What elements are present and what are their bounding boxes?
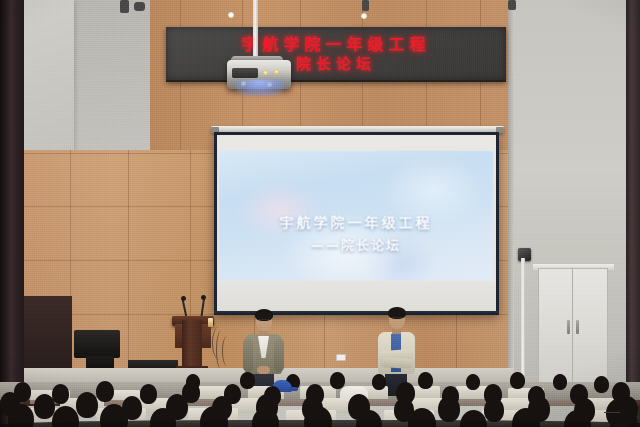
wall-panel-upper-left: [22, 0, 74, 152]
podium-cable: [222, 336, 232, 366]
audience-head: [553, 374, 567, 390]
led-banner-line-1: 宇航学院一年级工程: [166, 31, 506, 55]
audience-head: [484, 398, 504, 422]
wall-socket-icon: [336, 354, 346, 361]
audience-glasses-icon: [604, 412, 620, 417]
audience-head: [52, 384, 69, 404]
curtain-left-inner: [0, 0, 10, 427]
screen-lower-blank: [217, 281, 496, 311]
podium-indicator-light-icon: [208, 318, 213, 327]
presenter-left-glasses-icon: [257, 319, 271, 323]
audience-head: [76, 392, 98, 418]
projector-mount-pole: [253, 0, 258, 62]
audience-head: [418, 372, 433, 389]
presenter-left-arm-left: [243, 338, 253, 372]
auditorium-photo: 宇航学院一年级工程 院长论坛 宇航学院一年级工程 ——院长论坛: [0, 0, 640, 427]
audience-head: [140, 384, 157, 404]
audience-head: [510, 372, 525, 389]
presenter-right-arm-crossed-lower: [380, 357, 413, 369]
door-handle-left[interactable]: [567, 320, 570, 334]
ceiling-spot-icon: [508, 0, 516, 10]
led-banner: 宇航学院一年级工程 院长论坛: [166, 27, 506, 82]
slide-title: 宇航学院一年级工程: [219, 213, 493, 233]
projected-slide: 宇航学院一年级工程 ——院长论坛: [219, 151, 493, 281]
av-equipment-box: [74, 330, 120, 358]
led-banner-line-2: 院长论坛: [166, 53, 506, 74]
audience-head: [466, 374, 480, 390]
slide-subtitle: ——院长论坛: [219, 235, 493, 254]
projector-lens-glow-icon: [236, 80, 284, 96]
presenter-left-hands: [257, 366, 270, 374]
audience-shoulders: [0, 420, 640, 427]
presenter-right-glasses-icon: [390, 317, 404, 321]
audience-head: [96, 381, 114, 402]
microphone-head-left: [181, 296, 186, 301]
ceiling-spot-icon: [120, 0, 129, 13]
podium-column: [182, 320, 202, 372]
ceiling-spot-icon: [362, 0, 369, 11]
microphone-head-right: [201, 295, 206, 300]
ceiling-spot-icon: [361, 13, 367, 19]
ceiling-spot-icon: [228, 12, 234, 18]
exit-door-right[interactable]: [538, 268, 608, 386]
door-center-split: [572, 268, 573, 386]
ceiling-spot-icon: [134, 2, 145, 11]
curtain-right: [626, 0, 640, 427]
audience-head: [594, 376, 609, 393]
audience-head: [438, 396, 460, 422]
door-handle-right[interactable]: [576, 320, 579, 334]
audience-cap-brim-icon: [289, 387, 298, 391]
audience-head: [240, 372, 255, 389]
audience-head: [372, 374, 386, 390]
presenter-left-arm-right: [274, 338, 284, 372]
